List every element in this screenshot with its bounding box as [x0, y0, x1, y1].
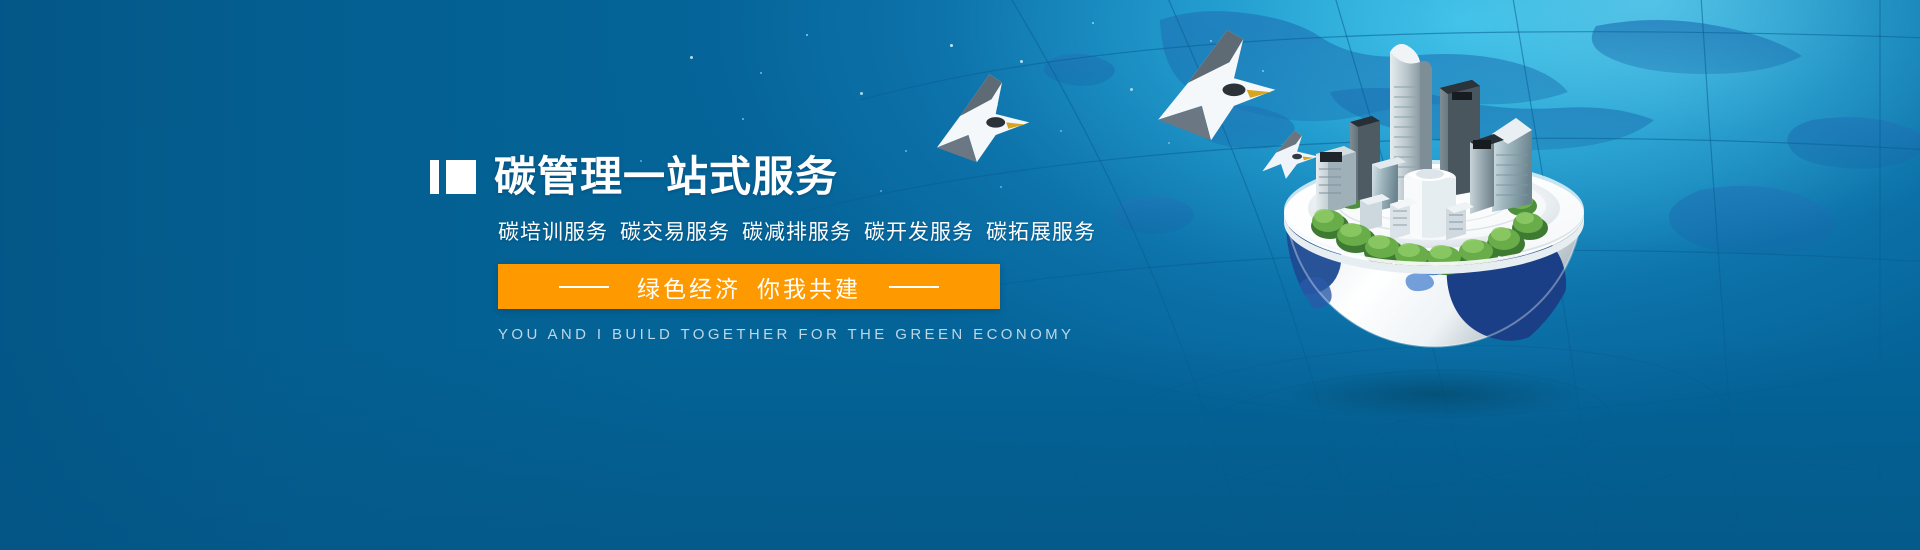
- banner-copy: 碳管理一站式服务 碳培训服务碳交易服务碳减排服务碳开发服务碳拓展服务 绿色经济你…: [430, 150, 1110, 343]
- slogan-part-left: 绿色经济: [637, 276, 741, 302]
- service-item-2: 碳减排服务: [742, 221, 852, 244]
- hero-banner: 碳管理一站式服务 碳培训服务碳交易服务碳减排服务碳开发服务碳拓展服务 绿色经济你…: [0, 0, 1920, 550]
- english-tagline: YOU AND I BUILD TOGETHER FOR THE GREEN E…: [498, 326, 1110, 343]
- service-item-3: 碳开发服务: [864, 221, 974, 244]
- headline-row: 碳管理一站式服务: [430, 150, 1110, 204]
- earth-city-illustration: [1264, 26, 1604, 426]
- service-item-4: 碳拓展服务: [986, 221, 1096, 244]
- slogan-part-right: 你我共建: [757, 276, 861, 302]
- service-item-1: 碳交易服务: [620, 221, 730, 244]
- slogan-text: 绿色经济你我共建: [637, 270, 861, 304]
- ribbon-dash-right: [889, 286, 939, 288]
- service-list: 碳培训服务碳交易服务碳减排服务碳开发服务碳拓展服务: [430, 216, 1110, 246]
- page-title: 碳管理一站式服务: [494, 156, 838, 198]
- service-item-0: 碳培训服务: [498, 221, 608, 244]
- bar-square-mark-icon: [430, 160, 476, 194]
- ribbon-dash-left: [559, 286, 609, 288]
- slogan-ribbon: 绿色经济你我共建: [498, 264, 1000, 309]
